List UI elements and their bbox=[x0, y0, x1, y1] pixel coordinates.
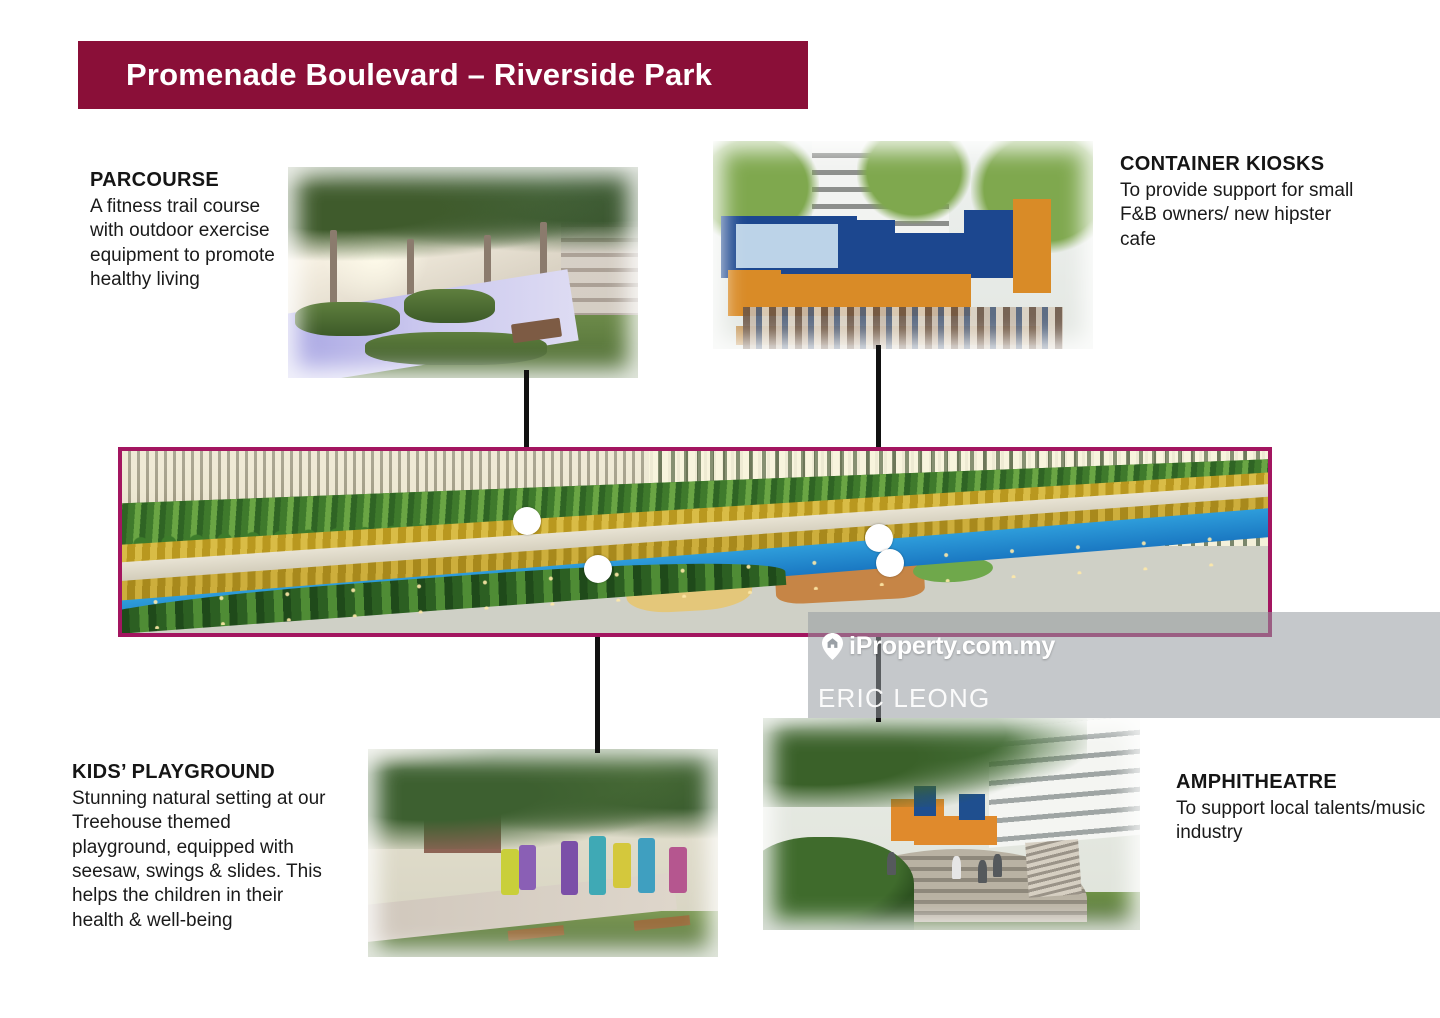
feature-heading-kids-playground: KIDS’ PLAYGROUND bbox=[72, 760, 327, 785]
feature-heading-parcourse: PARCOURSE bbox=[90, 168, 275, 193]
feature-body-amphitheatre: To support local talents/music industry bbox=[1176, 797, 1426, 846]
feature-text-kids-playground: KIDS’ PLAYGROUND Stunning natural settin… bbox=[72, 760, 327, 933]
masterplan-image bbox=[118, 447, 1272, 637]
feature-image-parcourse bbox=[288, 167, 638, 378]
location-pin-house-icon bbox=[822, 633, 843, 660]
watermark-logo: iProperty.com.my bbox=[822, 632, 1055, 661]
feature-text-parcourse: PARCOURSE A fitness trail course with ou… bbox=[90, 168, 275, 292]
feature-image-container-kiosks bbox=[713, 141, 1093, 349]
masterplan-marker-kids-playground[interactable] bbox=[584, 555, 612, 583]
feature-text-container-kiosks: CONTAINER KIOSKS To provide support for … bbox=[1120, 152, 1370, 252]
feature-body-parcourse: A fitness trail course with outdoor exer… bbox=[90, 195, 275, 292]
feature-heading-amphitheatre: AMPHITHEATRE bbox=[1176, 770, 1426, 795]
feature-body-kids-playground: Stunning natural setting at our Treehous… bbox=[72, 787, 327, 933]
masterplan-marker-amphitheatre[interactable] bbox=[876, 549, 904, 577]
feature-image-kids-playground bbox=[368, 749, 718, 957]
masterplan-marker-parcourse[interactable] bbox=[513, 507, 541, 535]
slide-root: Promenade Boulevard – Riverside Park PAR… bbox=[0, 0, 1440, 1018]
watermark-agent-name: ERIC LEONG bbox=[818, 683, 990, 714]
page-title-banner: Promenade Boulevard – Riverside Park bbox=[78, 41, 808, 109]
watermark-brand: iProperty.com.my bbox=[849, 632, 1055, 661]
feature-image-amphitheatre bbox=[763, 718, 1140, 930]
masterplan-marker-container-kiosks[interactable] bbox=[865, 524, 893, 552]
feature-heading-container-kiosks: CONTAINER KIOSKS bbox=[1120, 152, 1370, 177]
feature-body-container-kiosks: To provide support for small F&B owners/… bbox=[1120, 179, 1370, 252]
feature-text-amphitheatre: AMPHITHEATRE To support local talents/mu… bbox=[1176, 770, 1426, 846]
page-title: Promenade Boulevard – Riverside Park bbox=[126, 57, 712, 93]
